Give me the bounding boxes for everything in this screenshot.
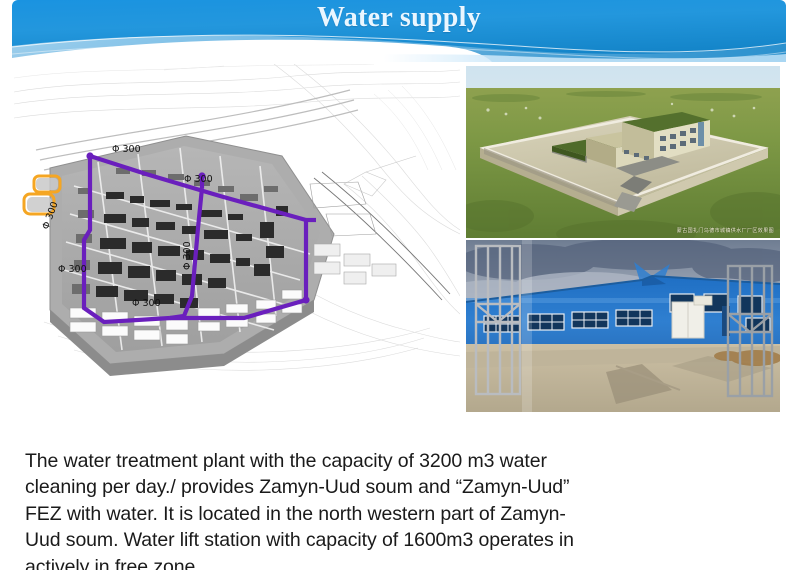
photo-water-treatment-plant-rendering: 蒙古国扎门乌德市城镇供水厂厂区效果图 [466, 66, 780, 238]
svg-text:Φ 300: Φ 300 [132, 298, 161, 309]
svg-text:Φ 300: Φ 300 [112, 144, 141, 155]
svg-text:Φ 300: Φ 300 [58, 264, 87, 275]
slide-header-banner: Water supply [12, 0, 786, 62]
slide-canvas: Water supply [0, 0, 800, 570]
town-water-network-map: Φ 300 Φ 300 Φ 300 Φ 300 Φ 300 Φ 300 [14, 64, 460, 394]
svg-text:Φ 300: Φ 300 [182, 241, 193, 270]
rendering-caption: 蒙古国扎门乌德市城镇供水厂厂区效果图 [677, 228, 774, 234]
slide-body-paragraph: The water treatment plant with the capac… [25, 448, 580, 570]
plant-building-photo-graphic [466, 240, 780, 412]
photo-water-treatment-plant-building [466, 240, 780, 412]
svg-text:Φ 300: Φ 300 [184, 174, 213, 185]
header-banner-graphic [12, 0, 786, 62]
plant-rendering-graphic [466, 66, 780, 238]
map-figure: Φ 300 Φ 300 Φ 300 Φ 300 Φ 300 Φ 300 [14, 64, 460, 394]
